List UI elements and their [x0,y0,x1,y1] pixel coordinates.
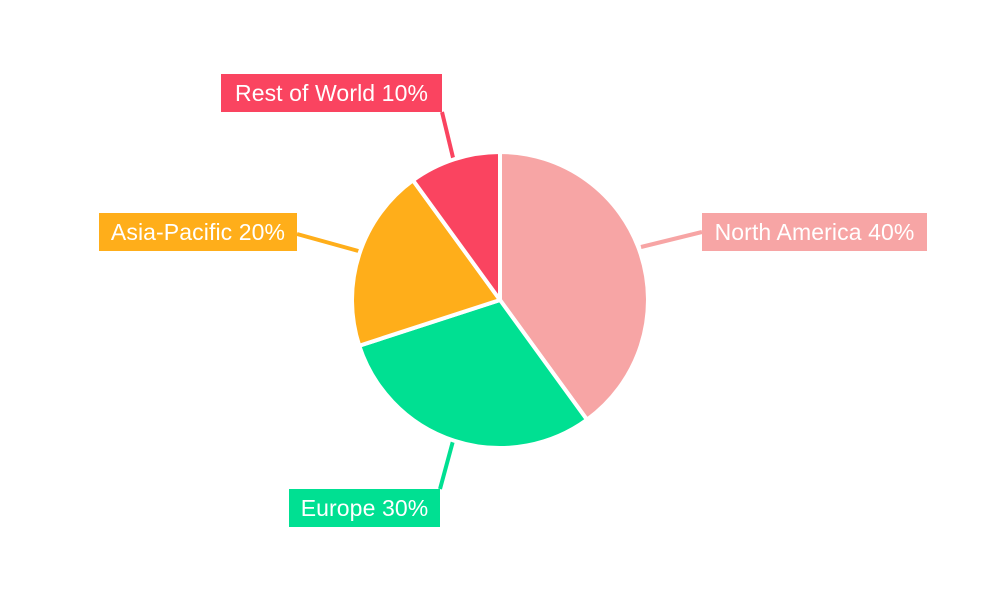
leader-line-europe [440,441,453,489]
slice-label-rest-of-world[interactable]: Rest of World 10% [221,74,442,112]
leader-line-asia-pacific [297,234,362,252]
leader-line-north-america [641,232,702,247]
pie-chart-canvas [0,0,1000,600]
slice-label-asia-pacific[interactable]: Asia-Pacific 20% [99,213,297,251]
pie-chart-figure: North America 40% Europe 30% Asia-Pacifi… [0,0,1000,600]
slice-label-europe[interactable]: Europe 30% [289,489,440,527]
slice-label-north-america[interactable]: North America 40% [702,213,927,251]
pie-slices-group [352,152,648,448]
